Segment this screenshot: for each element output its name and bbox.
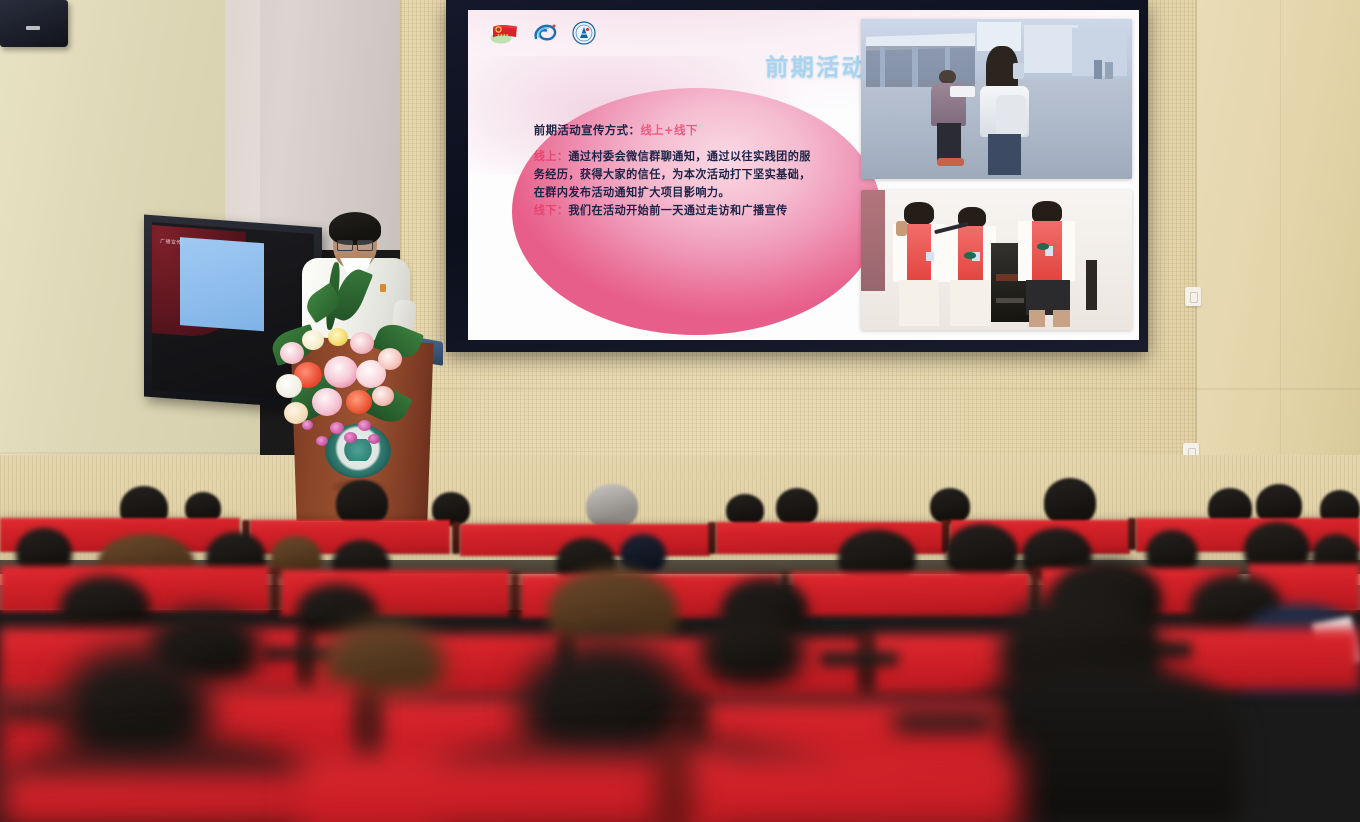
slide-online-label: 线上： <box>534 150 569 163</box>
wall-seam <box>0 452 260 454</box>
photo-village-outreach <box>861 19 1133 179</box>
seat-divider <box>1128 518 1136 550</box>
seat-divider <box>452 522 460 554</box>
slide-online-text: 通过村委会微信群聊通知，通过以往实践团的服务经历，获得大家的信任，为本次活动打下… <box>534 150 811 199</box>
flower-bouquet <box>272 270 432 470</box>
right-wall-panel <box>1195 0 1360 500</box>
audience-head <box>1044 478 1096 526</box>
seat-divider <box>510 572 520 616</box>
slide-canvas: ★★★★ <box>468 10 1139 340</box>
wall-curtain <box>225 0 425 250</box>
audience-head <box>700 612 804 688</box>
wall-seam <box>1280 0 1281 500</box>
seat-divider <box>270 568 280 612</box>
seat-row <box>680 752 1020 822</box>
slide-lead-value: 线上+线下 <box>640 123 697 137</box>
audience-head <box>776 488 818 526</box>
slide-offline-label: 线下： <box>534 204 569 217</box>
slide-online-paragraph: 线上：通过村委会微信群聊通知，通过以往实践团的服务经历，获得大家的信任，为本次活… <box>534 148 816 202</box>
projection-screen: ★★★★ <box>446 0 1148 352</box>
auditorium-scene: ★★★★ <box>0 0 1360 822</box>
seat-armrest <box>894 712 994 734</box>
seat-divider <box>300 632 312 690</box>
wall-seam <box>400 388 1360 390</box>
university-circular-seal-logo <box>572 21 596 45</box>
audience-head <box>930 488 970 524</box>
monitor-screen-label: 广播宣传 <box>160 238 182 247</box>
monitor-blue-region <box>180 238 264 332</box>
svg-text:★★★★: ★★★★ <box>497 33 509 37</box>
audience-head <box>586 484 638 528</box>
power-outlet-icon <box>1185 287 1201 306</box>
seat-row <box>300 756 720 822</box>
glasses-icon <box>337 240 373 249</box>
seat-divider <box>660 740 688 822</box>
slide-lead-label: 前期活动宣传方式： <box>534 123 641 137</box>
slide-lead-line: 前期活动宣传方式：线上+线下 <box>534 121 816 140</box>
wall-seam <box>1195 0 1197 500</box>
loudspeaker-icon <box>0 0 68 47</box>
photo-volunteers-broadcast <box>861 190 1133 330</box>
seat-armrest <box>820 652 898 666</box>
seat-divider <box>708 522 716 554</box>
slide-logo-row: ★★★★ <box>490 21 596 45</box>
slide-offline-paragraph: 线下：我们在活动开始前一天通过走访和广播宣传 <box>534 202 816 220</box>
seat-row <box>790 572 1030 616</box>
slide-offline-text: 我们在活动开始前一天通过走访和广播宣传 <box>568 204 787 217</box>
communist-youth-league-flag-logo: ★★★★ <box>490 22 519 44</box>
blue-swirl-organization-logo <box>532 22 559 44</box>
slide-body-text: 前期活动宣传方式：线上+线下 线上：通过村委会微信群聊通知，通过以往实践团的服务… <box>534 121 816 221</box>
